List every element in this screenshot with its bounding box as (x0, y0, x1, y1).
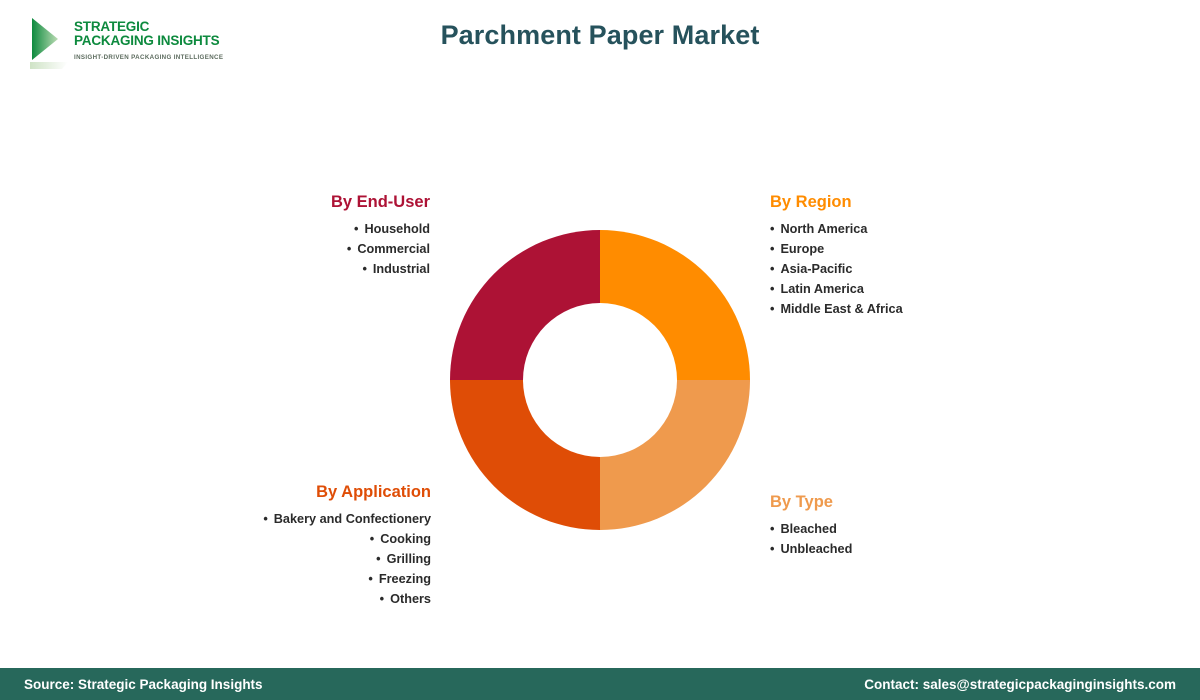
logo-tagline: INSIGHT-DRIVEN PACKAGING INTELLIGENCE (74, 54, 223, 61)
segment-list-application: Bakery and Confectionery Cooking Grillin… (150, 509, 431, 609)
list-item: Freezing (150, 569, 431, 589)
segment-title-end-user: By End-User (190, 192, 430, 212)
list-item: Others (150, 589, 431, 609)
segment-title-type: By Type (770, 492, 1070, 512)
segment-title-region: By Region (770, 192, 1070, 212)
list-item: Bakery and Confectionery (150, 509, 431, 529)
segment-group-end-user: By End-User Household Commercial Industr… (190, 192, 430, 279)
segment-list-end-user: Household Commercial Industrial (190, 219, 430, 279)
segment-list-type: Bleached Unbleached (770, 519, 1070, 559)
segment-group-type: By Type Bleached Unbleached (770, 492, 1070, 559)
list-item: Grilling (150, 549, 431, 569)
footer-contact[interactable]: Contact: sales@strategicpackaginginsight… (864, 677, 1176, 692)
donut-center-hole (523, 303, 677, 457)
segment-group-application: By Application Bakery and Confectionery … (150, 482, 431, 609)
list-item: Cooking (150, 529, 431, 549)
footer-bar: Source: Strategic Packaging Insights Con… (0, 668, 1200, 700)
list-item: Industrial (190, 259, 430, 279)
footer-source: Source: Strategic Packaging Insights (24, 677, 263, 692)
segment-title-application: By Application (150, 482, 431, 502)
segment-list-region: North America Europe Asia-Pacific Latin … (770, 219, 1070, 319)
list-item: North America (770, 219, 1070, 239)
list-item: Europe (770, 239, 1070, 259)
list-item: Bleached (770, 519, 1070, 539)
list-item: Household (190, 219, 430, 239)
list-item: Commercial (190, 239, 430, 259)
segment-group-region: By Region North America Europe Asia-Paci… (770, 192, 1070, 319)
page-title: Parchment Paper Market (0, 20, 1200, 51)
list-item: Asia-Pacific (770, 259, 1070, 279)
list-item: Unbleached (770, 539, 1070, 559)
list-item: Latin America (770, 279, 1070, 299)
list-item: Middle East & Africa (770, 299, 1070, 319)
